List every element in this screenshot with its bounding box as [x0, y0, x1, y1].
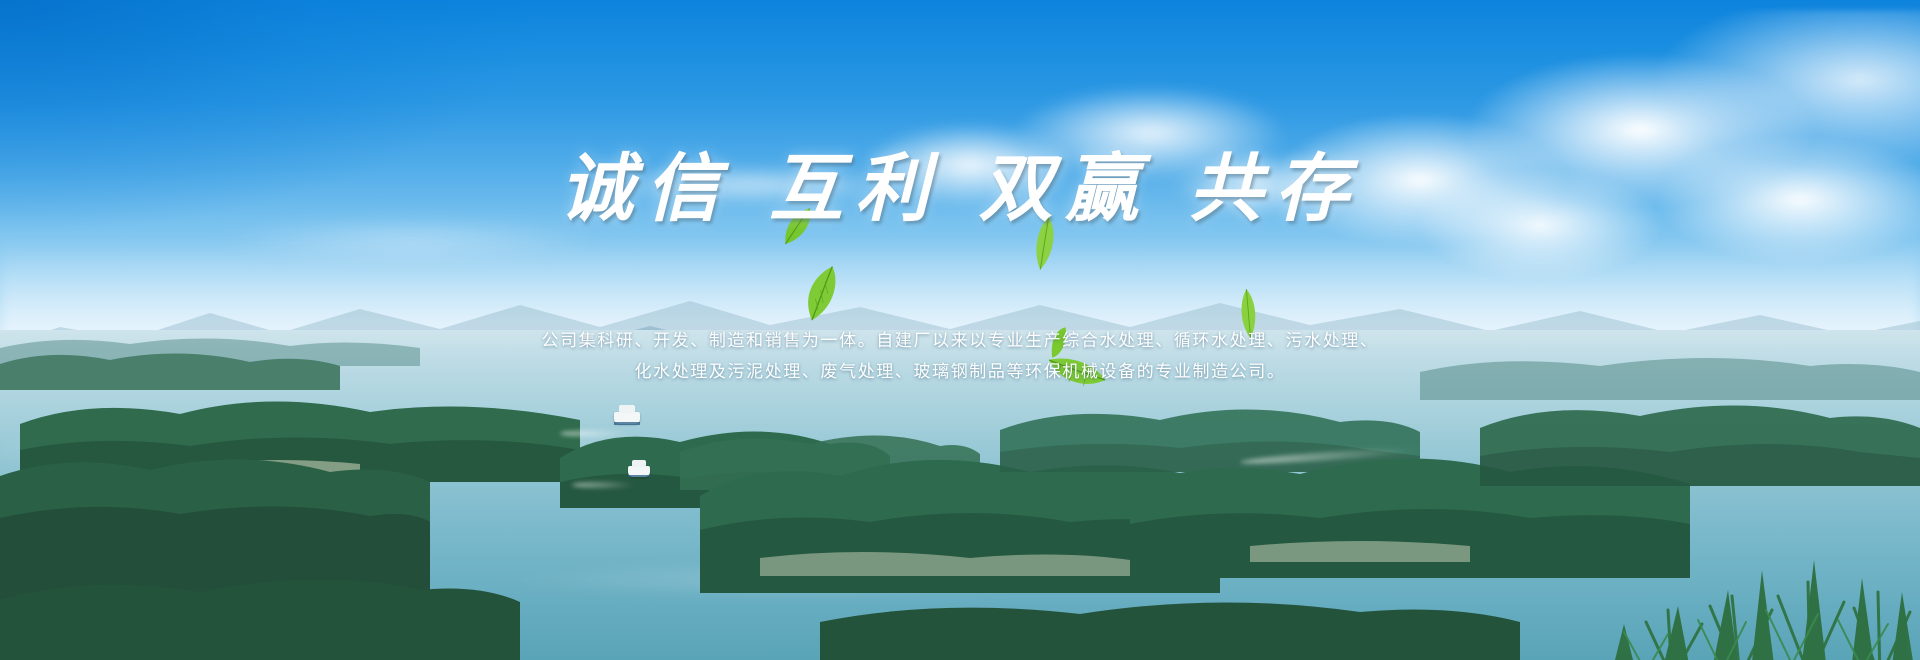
hero-banner: 诚信 互利 双赢 共存 公司集科研、开发、制造和销售为一体。自建厂以来以专业生产… [0, 0, 1920, 660]
boat-stripe [628, 475, 650, 477]
boat-wake-lower [572, 482, 636, 488]
boat-hull [614, 412, 640, 424]
boat-deck [619, 405, 636, 413]
boat-hull [628, 466, 650, 477]
ferry-boat-lower [628, 466, 650, 483]
boat-deck [632, 460, 646, 467]
foreground-pine-branch [1410, 410, 1920, 660]
boat-stripe [614, 422, 640, 425]
forested-island-bottom-left [0, 560, 520, 660]
ferry-boat-upper [614, 412, 640, 432]
boat-wake-upper [560, 430, 632, 437]
